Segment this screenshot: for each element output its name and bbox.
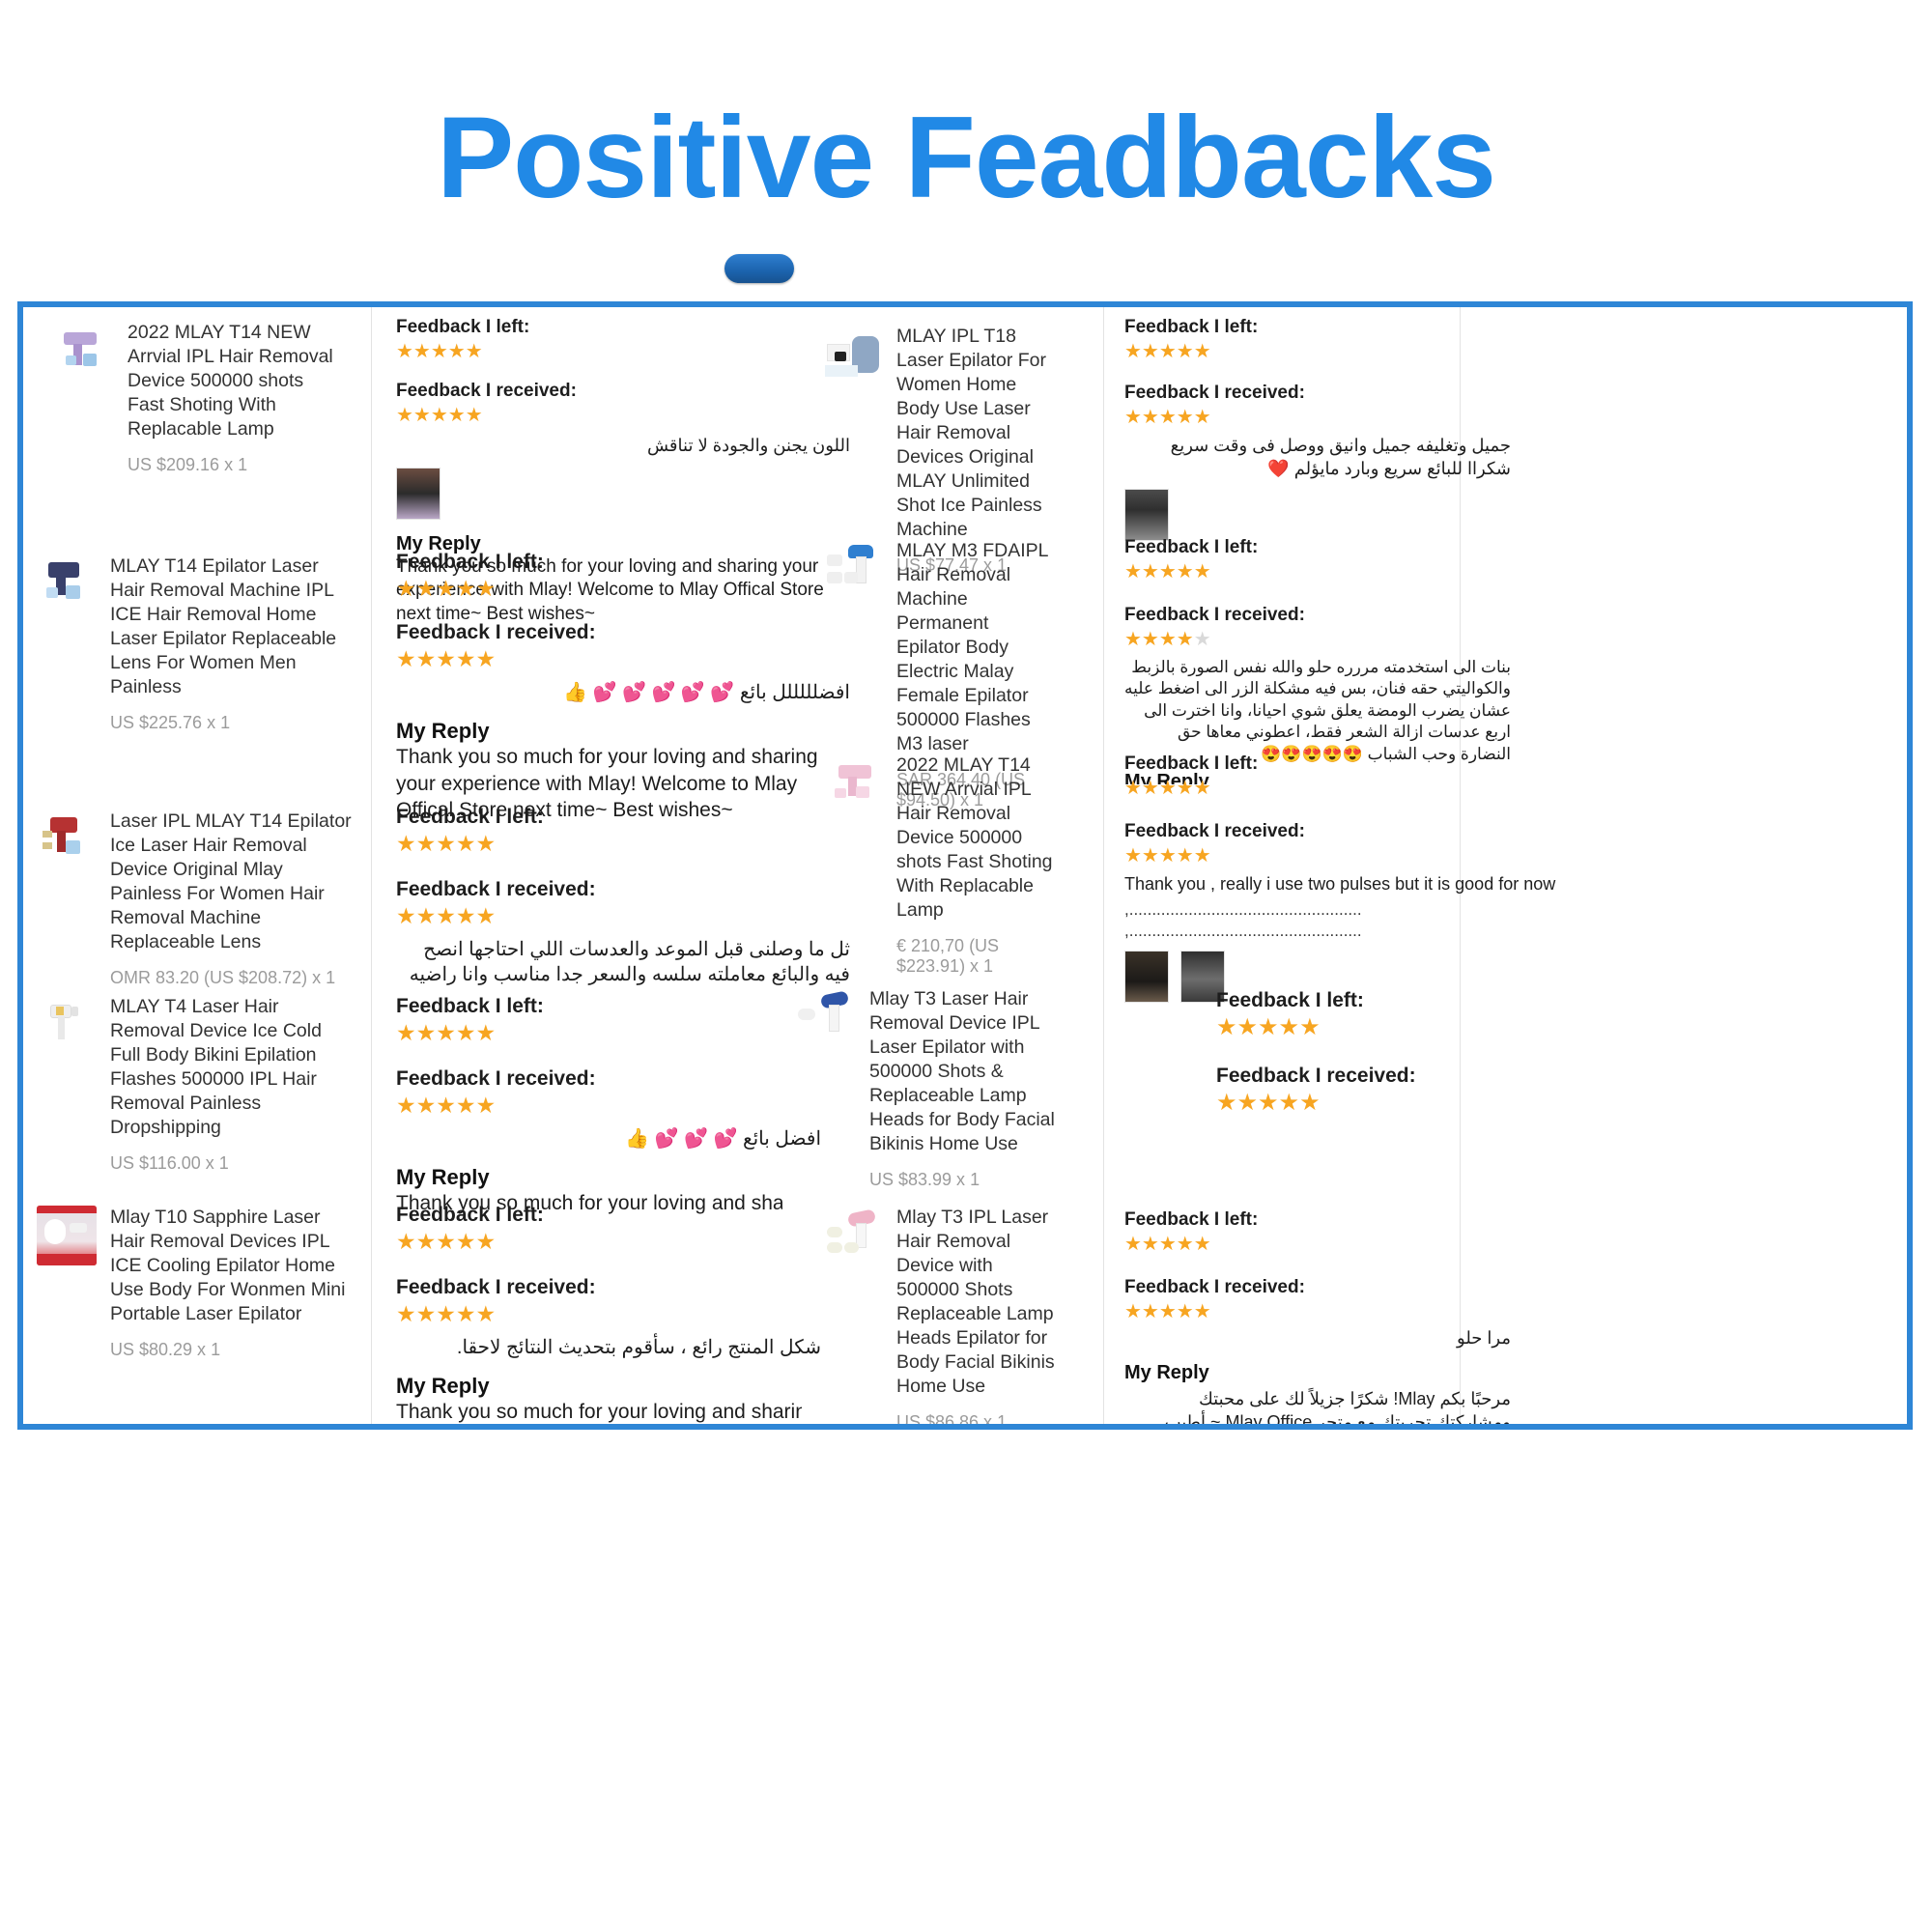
feedback-left-label: Feedback I left: — [1216, 989, 1535, 1012]
feedback-received-label: Feedback I received: — [1216, 1065, 1535, 1088]
product-row[interactable]: 2022 MLAY T14 NEW Arrvial IPL Hair Remov… — [54, 321, 344, 475]
review-text: افضلللللل بائع 💕 💕 💕 💕 💕 👍 — [396, 680, 850, 705]
product-title: 2022 MLAY T14 NEW Arrvial IPL Hair Remov… — [128, 321, 344, 441]
product-info: 2022 MLAY T14 NEW Arrvial IPL Hair Remov… — [896, 753, 1055, 977]
product-info: Mlay T10 Sapphire Laser Hair Removal Dev… — [110, 1206, 355, 1360]
star-rating-left: ★★★★★ — [396, 578, 850, 600]
review-text: شكل المنتج رائع ، سأقوم بتحديث النتائج ل… — [396, 1335, 821, 1360]
product-price: US $209.16 x 1 — [128, 455, 344, 475]
screenshot-inner: 2022 MLAY T14 NEW Arrvial IPL Hair Remov… — [23, 307, 1907, 1424]
feedback-left-label: Feedback I left: — [396, 1204, 821, 1227]
star-rating-left: ★★★★★ — [1216, 1016, 1535, 1039]
tab-pill-indicator[interactable] — [724, 254, 794, 283]
star-rating-received: ★★★★★ — [396, 1094, 821, 1117]
feedback-left-label: Feedback I left: — [396, 317, 850, 338]
product-title: MLAY T14 Epilator Laser Hair Removal Mac… — [110, 554, 355, 699]
my-reply-label: My Reply — [396, 719, 850, 744]
feedback-received-label: Feedback I received: — [396, 381, 850, 402]
product-info: Mlay T3 IPL Laser Hair Removal Device wi… — [896, 1206, 1055, 1424]
review-text: افضل بائع 💕 💕 💕 👍 — [396, 1126, 821, 1151]
product-price: US $225.76 x 1 — [110, 713, 355, 733]
review-photo[interactable] — [1124, 951, 1169, 1003]
feedback-entry: Feedback I left: ★★★★★ Feedback I receiv… — [1124, 753, 1530, 1003]
star-rating-left: ★★★★★ — [1124, 1235, 1530, 1254]
star-rating-left: ★★★★★ — [1124, 779, 1530, 798]
product-thumbnail — [37, 810, 97, 869]
product-price: US $116.00 x 1 — [110, 1153, 355, 1174]
screenshot-frame: 2022 MLAY T14 NEW Arrvial IPL Hair Remov… — [17, 301, 1913, 1430]
product-price: € 210,70 (US $223.91) x 1 — [896, 936, 1055, 977]
feedback-entry: Feedback I left: ★★★★★ Feedback I receiv… — [1124, 317, 1520, 541]
feedback-entry: Feedback I left: ★★★★★ Feedback I receiv… — [1124, 537, 1520, 784]
my-reply-text: مرحبًا بكم Mlay! شكرًا جزيلاً لك على محب… — [1124, 1388, 1511, 1424]
product-thumbnail — [823, 753, 883, 813]
my-reply-label: My Reply — [396, 1374, 821, 1399]
star-rating-received: ★★★★★ — [396, 1303, 821, 1325]
column-divider-1 — [371, 307, 372, 1424]
feedback-entry: Feedback I left: ★★★★★ Feedback I receiv… — [396, 995, 821, 1217]
product-row[interactable]: Laser IPL MLAY T14 Epilator Ice Laser Ha… — [37, 810, 355, 988]
product-title: Mlay T3 IPL Laser Hair Removal Device wi… — [896, 1206, 1055, 1399]
my-reply-label: My Reply — [1124, 1362, 1530, 1384]
product-info: 2022 MLAY T14 NEW Arrvial IPL Hair Remov… — [128, 321, 344, 475]
product-info: Mlay T3 Laser Hair Removal Device IPL La… — [869, 987, 1057, 1190]
product-info: MLAY T14 Epilator Laser Hair Removal Mac… — [110, 554, 355, 733]
feedback-received-label: Feedback I received: — [1124, 821, 1530, 842]
product-row[interactable]: MLAY T4 Laser Hair Removal Device Ice Co… — [37, 995, 355, 1174]
star-rating-left: ★★★★★ — [1124, 342, 1520, 361]
feedback-received-label: Feedback I received: — [396, 878, 850, 901]
product-price: US $86.86 x 1 — [896, 1412, 1055, 1424]
product-price: OMR 83.20 (US $208.72) x 1 — [110, 968, 355, 988]
star-rating-received: ★★★★★ — [1124, 408, 1520, 427]
review-dots-line: ,.......................................… — [1124, 922, 1530, 941]
product-title: Mlay T3 Laser Hair Removal Device IPL La… — [869, 987, 1057, 1156]
my-reply-label: My Reply — [396, 1165, 821, 1190]
feedback-collage-page: Positive Feadbacks 2022 MLAY T14 NEW Arr… — [0, 0, 1932, 1932]
product-price: US $80.29 x 1 — [110, 1340, 355, 1360]
product-info: MLAY IPL T18 Laser Epilator For Women Ho… — [896, 325, 1055, 576]
product-price: US $83.99 x 1 — [869, 1170, 1057, 1190]
page-title: Positive Feadbacks — [0, 97, 1932, 218]
product-row[interactable]: Mlay T3 IPL Laser Hair Removal Device wi… — [823, 1206, 1055, 1424]
review-text: اللون يجنن والجودة لا تناقش — [396, 435, 850, 458]
product-row[interactable]: Mlay T3 Laser Hair Removal Device IPL La… — [796, 987, 1057, 1190]
product-info: Laser IPL MLAY T14 Epilator Ice Laser Ha… — [110, 810, 355, 988]
star-rating-received: ★★★★★ — [1124, 846, 1530, 866]
feedback-left-label: Feedback I left: — [1124, 537, 1520, 558]
review-text: بنات الى استخدمته مررره حلو والله نفس ال… — [1124, 657, 1511, 765]
feedback-left-label: Feedback I left: — [1124, 317, 1520, 338]
star-rating-left: ★★★★★ — [396, 1231, 821, 1253]
star-rating-left: ★★★★★ — [396, 342, 850, 361]
review-dots-line: ,.......................................… — [1124, 900, 1530, 920]
product-thumbnail — [796, 987, 856, 1047]
product-row[interactable]: MLAY IPL T18 Laser Epilator For Women Ho… — [823, 325, 1055, 576]
review-text: Thank you , really i use two pulses but … — [1124, 873, 1530, 896]
product-title: Laser IPL MLAY T14 Epilator Ice Laser Ha… — [110, 810, 355, 954]
review-text: مرا حلو — [1124, 1327, 1511, 1350]
product-thumbnail — [37, 995, 97, 1055]
feedback-received-label: Feedback I received: — [1124, 1277, 1530, 1298]
product-title: MLAY IPL T18 Laser Epilator For Women Ho… — [896, 325, 1055, 542]
product-row[interactable]: MLAY T14 Epilator Laser Hair Removal Mac… — [37, 554, 355, 733]
feedback-entry: Feedback I left: ★★★★★ Feedback I receiv… — [396, 806, 850, 1013]
star-rating-received: ★★★★★ — [1124, 630, 1520, 649]
feedback-entry: Feedback I left: ★★★★★ Feedback I receiv… — [396, 1204, 821, 1424]
review-text: جميل وتغليفه جميل وانيق ووصل فى وقت سريع… — [1124, 435, 1511, 481]
product-info: MLAY T4 Laser Hair Removal Device Ice Co… — [110, 995, 355, 1174]
feedback-left-label: Feedback I left: — [396, 806, 850, 829]
feedback-left-label: Feedback I left: — [1124, 1209, 1530, 1231]
product-thumbnail — [37, 1206, 97, 1265]
feedback-received-label: Feedback I received: — [396, 1067, 821, 1091]
star-rating-received: ★★★★★ — [396, 905, 850, 927]
product-thumbnail — [823, 325, 883, 384]
product-thumbnail — [37, 554, 97, 614]
star-rating-received: ★★★★★ — [1216, 1092, 1535, 1115]
product-title: MLAY T4 Laser Hair Removal Device Ice Co… — [110, 995, 355, 1140]
feedback-entry: Feedback I left: ★★★★★ Feedback I receiv… — [396, 551, 850, 823]
star-rating-received: ★★★★★ — [396, 648, 850, 670]
feedback-received-label: Feedback I received: — [1124, 605, 1520, 626]
my-reply-text: Thank you so much for your loving and sh… — [396, 1399, 802, 1424]
star-rating-received: ★★★★★ — [1124, 1302, 1530, 1321]
feedback-received-label: Feedback I received: — [1124, 383, 1520, 404]
product-thumbnail — [823, 539, 883, 599]
feedback-entry: Feedback I left: ★★★★★ Feedback I receiv… — [1124, 1209, 1530, 1424]
product-title: MLAY M3 FDAIPL Hair Removal Machine Perm… — [896, 539, 1055, 756]
feedback-entry: Feedback I left: ★★★★★ Feedback I receiv… — [1216, 989, 1535, 1115]
product-title: 2022 MLAY T14 NEW Arrvial IPL Hair Remov… — [896, 753, 1055, 923]
review-photo[interactable] — [1124, 489, 1169, 541]
product-thumbnail — [54, 321, 114, 381]
star-rating-left: ★★★★★ — [396, 1022, 821, 1044]
star-rating-left: ★★★★★ — [396, 833, 850, 855]
product-row[interactable]: 2022 MLAY T14 NEW Arrvial IPL Hair Remov… — [823, 753, 1055, 977]
feedback-received-label: Feedback I received: — [396, 621, 850, 644]
feedback-left-label: Feedback I left: — [396, 551, 850, 574]
review-photo[interactable] — [396, 468, 440, 520]
feedback-left-label: Feedback I left: — [396, 995, 821, 1018]
star-rating-left: ★★★★★ — [1124, 562, 1520, 582]
feedback-left-label: Feedback I left: — [1124, 753, 1530, 775]
column-divider-2 — [1103, 307, 1104, 1424]
product-thumbnail — [823, 1206, 883, 1265]
product-title: Mlay T10 Sapphire Laser Hair Removal Dev… — [110, 1206, 355, 1326]
product-row[interactable]: Mlay T10 Sapphire Laser Hair Removal Dev… — [37, 1206, 355, 1360]
feedback-received-label: Feedback I received: — [396, 1276, 821, 1299]
star-rating-received: ★★★★★ — [396, 406, 850, 425]
